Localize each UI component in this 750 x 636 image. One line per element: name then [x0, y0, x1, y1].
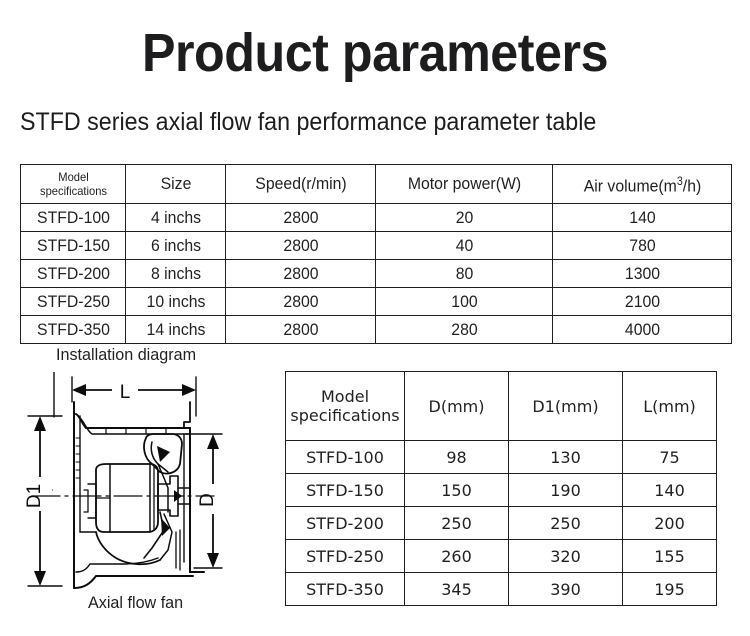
- performance-table-body: STFD-100 4 inchs 2800 20 140 STFD-150 6 …: [21, 204, 732, 344]
- housing-top-wall-inner: [78, 416, 188, 434]
- arrowhead-d-bottom: [207, 553, 219, 568]
- dimension-table: Model specifications D(mm) D1(mm) L(mm) …: [285, 371, 717, 606]
- table-header-row: Model specifications D(mm) D1(mm) L(mm): [286, 372, 717, 441]
- column-header-d1: D1(mm): [509, 372, 623, 441]
- cell-air-volume: 1300: [559, 260, 725, 288]
- cell-motor-power: 20: [382, 204, 547, 232]
- cell-l: 155: [623, 540, 717, 573]
- cell-air-volume: 4000: [559, 316, 725, 344]
- table-row: STFD-200 8 inchs 2800 80 1300: [21, 260, 732, 288]
- cell-model: STFD-200: [24, 260, 122, 288]
- cell-d: 250: [405, 507, 509, 540]
- cell-model: STFD-350: [24, 316, 122, 344]
- arrowhead-d1-top: [34, 416, 46, 431]
- column-header-model: Model specifications: [286, 372, 405, 441]
- installation-diagram-caption: Installation diagram: [56, 344, 196, 366]
- table-row: STFD-150 150 190 140: [286, 474, 717, 507]
- dimension-label-l: L: [120, 382, 131, 403]
- column-header-size: Size: [129, 165, 222, 204]
- column-header-model-line1: Model: [321, 387, 369, 406]
- cell-size: 10 inchs: [129, 288, 222, 316]
- air-volume-superscript: 3: [676, 176, 682, 188]
- bellmouth-lower: [96, 532, 160, 564]
- cell-d: 260: [405, 540, 509, 573]
- table-row: STFD-150 6 inchs 2800 40 780: [21, 232, 732, 260]
- column-header-d: D(mm): [405, 372, 509, 441]
- cell-speed: 2800: [231, 204, 371, 232]
- page-subtitle: STFD series axial flow fan performance p…: [20, 106, 596, 138]
- cell-air-volume: 140: [559, 204, 725, 232]
- arrowhead-d1-bottom: [34, 571, 46, 586]
- column-header-model-line2: specifications: [290, 406, 399, 425]
- cell-model: STFD-100: [24, 204, 122, 232]
- dimension-table-body: STFD-100 98 130 75 STFD-150 150 190 140 …: [286, 441, 717, 606]
- cell-model: STFD-100: [286, 441, 405, 474]
- table-row: STFD-250 260 320 155: [286, 540, 717, 573]
- cell-l: 140: [623, 474, 717, 507]
- housing-right-lip: [184, 402, 190, 428]
- column-header-motor-power: Motor power(W): [382, 165, 547, 204]
- cell-model: STFD-200: [286, 507, 405, 540]
- cell-d1: 390: [509, 573, 623, 606]
- installation-diagram: L D1 D: [18, 372, 268, 592]
- column-header-model: Model specifications: [24, 165, 122, 204]
- motor-bracket-left-inner: [84, 490, 88, 512]
- cell-model: STFD-250: [24, 288, 122, 316]
- cell-speed: 2800: [231, 316, 371, 344]
- cell-model: STFD-250: [286, 540, 405, 573]
- cell-motor-power: 280: [382, 316, 547, 344]
- air-volume-text-post: /h): [682, 176, 700, 195]
- cell-speed: 2800: [231, 232, 371, 260]
- cell-l: 75: [623, 441, 717, 474]
- cell-size: 4 inchs: [129, 204, 222, 232]
- cell-model: STFD-350: [286, 573, 405, 606]
- cell-air-volume: 780: [559, 232, 725, 260]
- cell-d1: 130: [509, 441, 623, 474]
- dimension-label-d1: D1: [24, 484, 45, 508]
- arrowhead-d-top: [207, 434, 219, 449]
- arrowhead-l-left: [72, 384, 86, 396]
- cell-motor-power: 40: [382, 232, 547, 260]
- arrowhead-l-right: [182, 384, 196, 396]
- cell-model: STFD-150: [24, 232, 122, 260]
- cell-l: 200: [623, 507, 717, 540]
- table-row: STFD-350 345 390 195: [286, 573, 717, 606]
- table-row: STFD-200 250 250 200: [286, 507, 717, 540]
- cell-d1: 320: [509, 540, 623, 573]
- table-row: STFD-100 4 inchs 2800 20 140: [21, 204, 732, 232]
- cell-size: 14 inchs: [129, 316, 222, 344]
- table-row: STFD-100 98 130 75: [286, 441, 717, 474]
- cell-air-volume: 2100: [559, 288, 725, 316]
- column-header-l: L(mm): [623, 372, 717, 441]
- impeller-blade-upper-fill: [157, 446, 170, 462]
- impeller-blade-lower-fill: [161, 518, 170, 536]
- column-header-air-volume: Air volume(m3/h): [559, 165, 725, 204]
- column-header-model-line2: specifications: [39, 184, 106, 198]
- column-header-speed: Speed(r/min): [231, 165, 371, 204]
- column-header-model-line1: Model: [58, 170, 88, 184]
- housing-bottom-wall: [74, 576, 193, 588]
- housing-bottom-flare: [76, 564, 122, 572]
- cell-d: 98: [405, 441, 509, 474]
- cell-d1: 250: [509, 507, 623, 540]
- housing-top-wall: [76, 414, 190, 428]
- cell-speed: 2800: [231, 260, 371, 288]
- performance-parameter-table: Model specifications Size Speed(r/min) M…: [20, 164, 732, 344]
- cell-d: 345: [405, 573, 509, 606]
- table-header-row: Model specifications Size Speed(r/min) M…: [21, 165, 732, 204]
- cell-l: 195: [623, 573, 717, 606]
- air-volume-text-pre: Air volume(m: [583, 176, 676, 195]
- cell-d: 150: [405, 474, 509, 507]
- motor-bracket-left: [88, 484, 96, 518]
- page-title: Product parameters: [26, 22, 724, 84]
- cell-d1: 190: [509, 474, 623, 507]
- cell-model: STFD-150: [286, 474, 405, 507]
- table-row: STFD-250 10 inchs 2800 100 2100: [21, 288, 732, 316]
- table-row: STFD-350 14 inchs 2800 280 4000: [21, 316, 732, 344]
- axial-flow-fan-caption: Axial flow fan: [88, 592, 183, 614]
- cell-size: 8 inchs: [129, 260, 222, 288]
- dimension-label-d: D: [197, 493, 218, 507]
- cell-motor-power: 80: [382, 260, 547, 288]
- cell-speed: 2800: [231, 288, 371, 316]
- cell-size: 6 inchs: [129, 232, 222, 260]
- cell-motor-power: 100: [382, 288, 547, 316]
